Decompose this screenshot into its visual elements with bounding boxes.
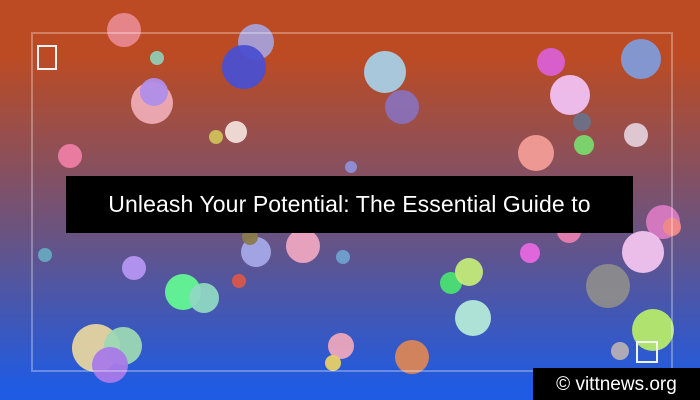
bubble-circle bbox=[385, 90, 419, 124]
bubble-circle bbox=[225, 121, 247, 143]
promo-banner-image: Unleash Your Potential: The Essential Gu… bbox=[0, 0, 700, 400]
bubble-circle bbox=[58, 144, 82, 168]
bubble-circle bbox=[232, 274, 246, 288]
bubble-circle bbox=[622, 231, 664, 273]
marker-box-bottom-right bbox=[636, 341, 658, 363]
bubble-circle bbox=[122, 256, 146, 280]
bubble-circle bbox=[550, 75, 590, 115]
bubble-circle bbox=[455, 300, 491, 336]
marker-box-top-left bbox=[37, 45, 57, 70]
bubble-circle bbox=[573, 113, 591, 131]
page-title: Unleash Your Potential: The Essential Gu… bbox=[108, 193, 590, 216]
bubble-circle bbox=[38, 248, 52, 262]
bubble-circle bbox=[140, 78, 168, 106]
bubble-circle bbox=[150, 51, 164, 65]
bubble-circle bbox=[107, 13, 141, 47]
watermark-badge: © vittnews.org bbox=[533, 368, 700, 400]
bubble-circle bbox=[345, 161, 357, 173]
bubble-circle bbox=[189, 283, 219, 313]
bubble-circle bbox=[336, 250, 350, 264]
bubble-circle bbox=[663, 218, 681, 236]
bubble-circle bbox=[574, 135, 594, 155]
watermark-text: © vittnews.org bbox=[556, 375, 677, 394]
bubble-circle bbox=[209, 130, 223, 144]
bubble-circle bbox=[222, 45, 266, 89]
bubble-circle bbox=[586, 264, 630, 308]
bubble-circle bbox=[455, 258, 483, 286]
title-banner: Unleash Your Potential: The Essential Gu… bbox=[66, 176, 633, 233]
bubble-circle bbox=[537, 48, 565, 76]
bubble-circle bbox=[92, 347, 128, 383]
bubble-circle bbox=[286, 229, 320, 263]
bubble-circle bbox=[621, 39, 661, 79]
bubble-circle bbox=[325, 355, 341, 371]
bubble-circle bbox=[395, 340, 429, 374]
bubble-circle bbox=[518, 135, 554, 171]
bubble-circle bbox=[611, 342, 629, 360]
bubble-circle bbox=[520, 243, 540, 263]
bubble-circle bbox=[624, 123, 648, 147]
bubble-circle bbox=[364, 51, 406, 93]
